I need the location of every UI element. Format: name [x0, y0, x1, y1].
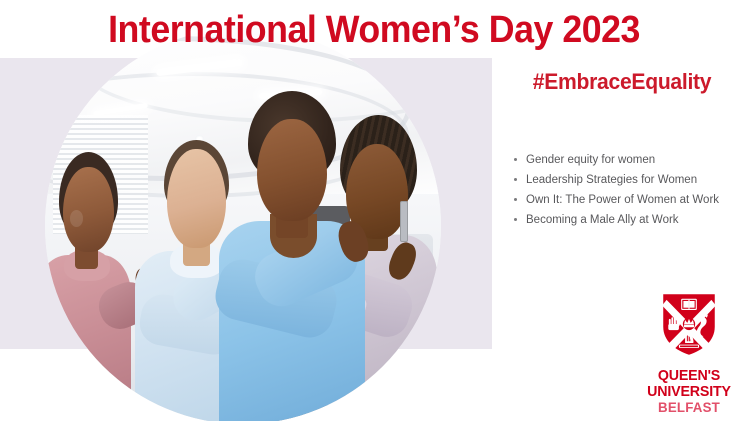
person-woman-3: [219, 91, 377, 421]
head: [167, 149, 226, 248]
list-item: Becoming a Male Ally at Work: [512, 212, 740, 228]
qub-logo: QUEEN'S UNIVERSITY BELFAST: [637, 292, 741, 415]
logo-line-queens: QUEEN'S: [640, 368, 739, 384]
list-item-label: Becoming a Male Ally at Work: [526, 214, 679, 226]
list-item: Gender equity for women: [512, 152, 740, 168]
list-item-label: Own It: The Power of Women at Work: [526, 194, 719, 206]
head: [257, 119, 327, 221]
list-item: Leadership Strategies for Women: [512, 172, 740, 188]
list-item: Own It: The Power of Women at Work: [512, 192, 740, 208]
campaign-hashtag: #EmbraceEquality: [503, 68, 741, 96]
photo-scene: [45, 28, 441, 421]
face-highlight: [70, 210, 83, 227]
logo-line-university: UNIVERSITY: [640, 384, 739, 400]
group-photo-circle: [45, 28, 441, 421]
earring: [400, 201, 409, 242]
page-title: International Women’s Day 2023: [22, 8, 725, 52]
iwd-2023-poster: International Women’s Day 2023 #EmbraceE…: [0, 0, 748, 421]
list-item-label: Leadership Strategies for Women: [526, 174, 697, 186]
head: [63, 167, 114, 253]
logo-line-belfast: BELFAST: [640, 399, 739, 415]
qub-crest-icon: [661, 292, 717, 362]
list-item-label: Gender equity for women: [526, 154, 655, 166]
session-list: Gender equity for women Leadership Strat…: [512, 152, 740, 232]
